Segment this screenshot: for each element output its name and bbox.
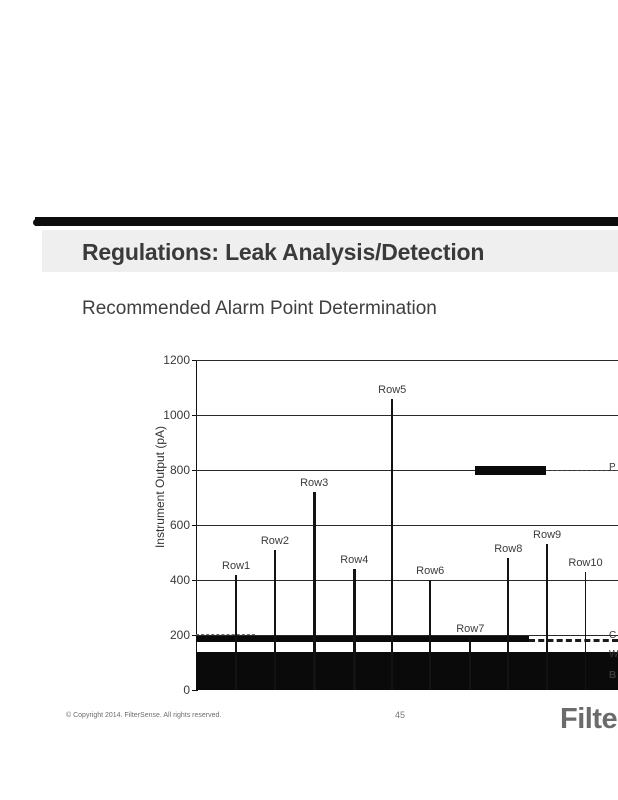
data-spike <box>507 558 509 690</box>
gridline <box>196 525 618 526</box>
data-spike <box>469 638 471 690</box>
data-spike <box>391 399 393 691</box>
y-tick-label: 800 <box>146 465 190 475</box>
data-spike-label: Row10 <box>568 557 602 569</box>
data-spike <box>353 569 355 690</box>
page-subtitle: Recommended Alarm Point Determination <box>82 295 602 323</box>
data-spike <box>585 572 587 690</box>
warning-label: W <box>609 649 618 660</box>
data-spike <box>546 544 548 690</box>
footer-copyright: © Copyright 2014. FilterSense. All right… <box>66 712 221 719</box>
permit-limit-bar <box>475 466 547 475</box>
y-tick-label: 400 <box>146 575 190 585</box>
data-spike-label: Row1 <box>222 560 250 572</box>
y-tick-label: 200 <box>146 630 190 640</box>
slide: Regulations: Leak Analysis/Detection Rec… <box>0 0 618 800</box>
data-spike-label: Row4 <box>340 554 368 566</box>
gridline <box>196 360 618 361</box>
data-spike-label: Row5 <box>378 384 406 396</box>
data-spike <box>429 580 431 690</box>
y-tick-label: 0 <box>146 685 190 695</box>
data-spike-label: Row2 <box>261 535 289 547</box>
plot-area: Row1Row2Row3Row4Row5Row6Row7Row8Row9Row1… <box>196 360 618 690</box>
baseline-band <box>196 652 618 691</box>
corrective-action-label: C <box>609 630 618 641</box>
gridline <box>196 415 618 416</box>
data-spike-label: Row8 <box>494 543 522 555</box>
permit-limit-dashed <box>546 470 618 471</box>
header-accent-bar <box>35 217 618 226</box>
data-spike-label: Row6 <box>416 565 444 577</box>
data-spike <box>235 575 237 691</box>
data-spike <box>274 550 276 690</box>
data-spike-label: Row3 <box>300 477 328 489</box>
y-tick-mark <box>192 690 198 691</box>
footer-page-number: 45 <box>395 710 405 720</box>
filtersense-logo: Filte <box>560 703 618 736</box>
data-spike-label: Row9 <box>533 529 561 541</box>
y-tick-label: 600 <box>146 520 190 530</box>
baseline-label: B <box>609 670 618 681</box>
pre-alarm-dashed <box>196 634 255 635</box>
gridline <box>196 580 618 581</box>
y-tick-label: 1000 <box>146 410 190 420</box>
alarm-level-dashed <box>529 639 618 642</box>
chart: Instrument Output (pA) 02004006008001000… <box>120 350 618 700</box>
data-spike-label: Row7 <box>456 623 484 635</box>
y-tick-label: 1200 <box>146 355 190 365</box>
permit-limit-label: P <box>609 462 618 473</box>
page-title: Regulations: Leak Analysis/Detection <box>82 235 602 269</box>
alarm-level-bar <box>196 636 529 642</box>
data-spike <box>313 492 315 690</box>
